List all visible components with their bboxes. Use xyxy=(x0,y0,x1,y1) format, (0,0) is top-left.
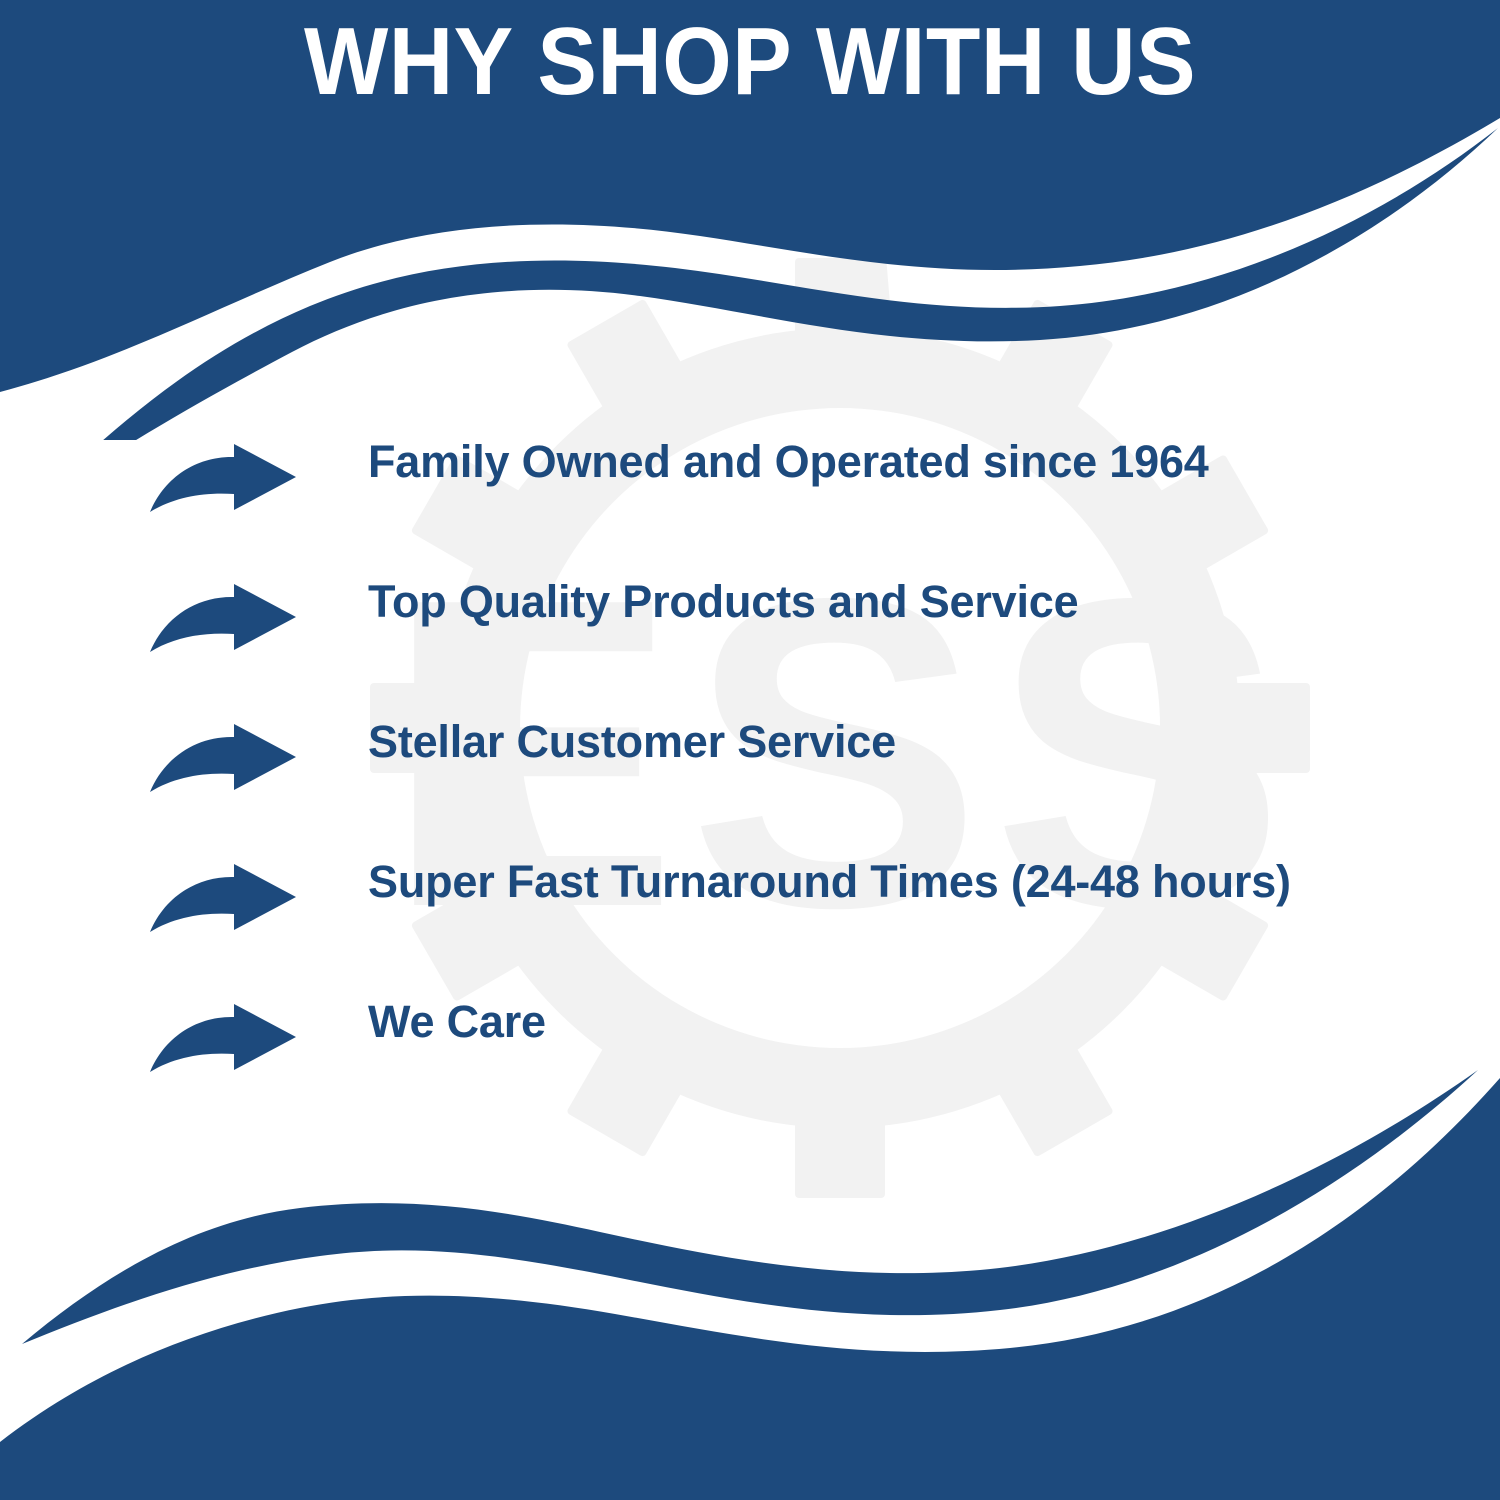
curved-arrow-right-icon xyxy=(148,584,298,656)
list-item: Top Quality Products and Service xyxy=(0,570,1500,710)
why-shop-with-us-poster: ESS WHY SHOP WITH US Family Owned and Op… xyxy=(0,0,1500,1500)
header-swoosh-arc xyxy=(30,128,1498,440)
curved-arrow-right-icon xyxy=(148,444,298,516)
list-item: Stellar Customer Service xyxy=(0,710,1500,850)
list-item-label: Family Owned and Operated since 1964 xyxy=(368,438,1209,485)
bottom-wave-decoration xyxy=(0,1070,1500,1500)
curved-arrow-right-icon xyxy=(148,864,298,936)
feature-list: Family Owned and Operated since 1964 Top… xyxy=(0,430,1500,1130)
list-item-label: Stellar Customer Service xyxy=(368,718,896,765)
list-item: Family Owned and Operated since 1964 xyxy=(0,430,1500,570)
page-title: WHY SHOP WITH US xyxy=(53,14,1448,110)
list-item-label: Top Quality Products and Service xyxy=(368,578,1078,625)
footer-navy-block xyxy=(0,1078,1500,1500)
list-item-label: We Care xyxy=(368,998,546,1045)
list-item: We Care xyxy=(0,990,1500,1130)
curved-arrow-right-icon xyxy=(148,724,298,796)
curved-arrow-right-icon xyxy=(148,1004,298,1076)
list-item-label: Super Fast Turnaround Times (24-48 hours… xyxy=(368,858,1291,905)
list-item: Super Fast Turnaround Times (24-48 hours… xyxy=(0,850,1500,990)
